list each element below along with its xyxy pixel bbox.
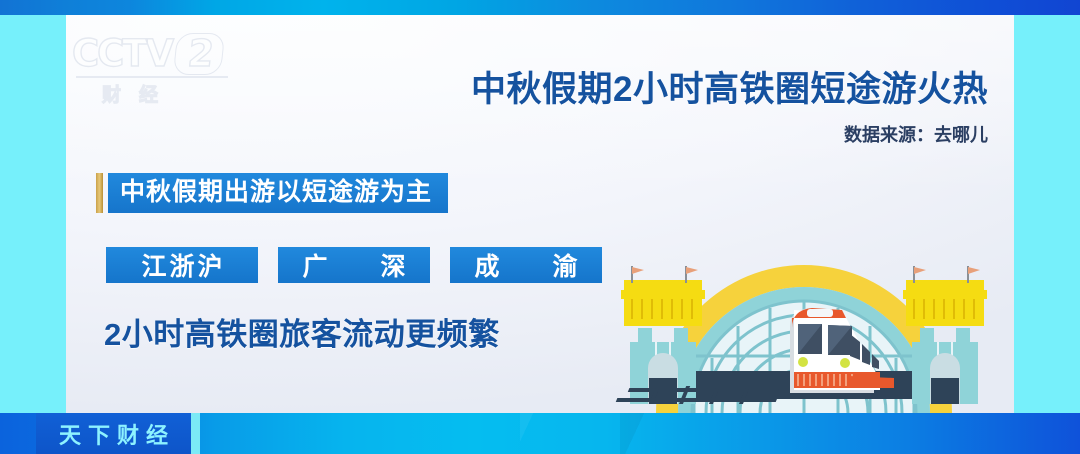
right-cyan-band [1014,15,1080,413]
cctv-wordmark: CCTV2 [72,33,252,75]
program-badge: 天下财经 [36,413,200,454]
section-banner-label: 中秋假期出游以短途游为主 [108,173,448,213]
sub-headline: 2小时高铁圈旅客流动更频繁 [104,309,500,354]
channel-number: 2 [173,33,225,75]
region-tag-3: 成 渝 [450,247,602,283]
gold-accent-bar [96,173,103,213]
program-name: 天下财经 [36,413,191,454]
region-tag-1: 江浙沪 [106,247,258,283]
left-cyan-band [0,15,66,413]
data-source-note: 数据来源：去哪儿 [372,121,988,147]
section-banner: 中秋假期出游以短途游为主 [96,173,448,213]
broadcast-graphic-stage: CCTV2 财经 中秋假期2小时高铁圈短途游火热 数据来源：去哪儿 中秋假期出游… [0,0,1080,454]
channel-subtitle: 财经 [102,80,252,107]
logo-underline [76,76,228,78]
train-station-illustration [594,238,1014,413]
program-accent-bar [191,413,200,454]
top-chrome-bar [0,0,1080,15]
region-tag-list: 江浙沪 广 深 成 渝 [106,247,602,283]
content-panel: CCTV2 财经 中秋假期2小时高铁圈短途游火热 数据来源：去哪儿 中秋假期出游… [66,15,1014,413]
cctv-letters: CCTV [72,32,172,75]
region-tag-2: 广 深 [278,247,430,283]
cctv2-watermark-logo: CCTV2 财经 [72,33,252,111]
page-title: 中秋假期2小时高铁圈短途游火热 [372,61,988,112]
